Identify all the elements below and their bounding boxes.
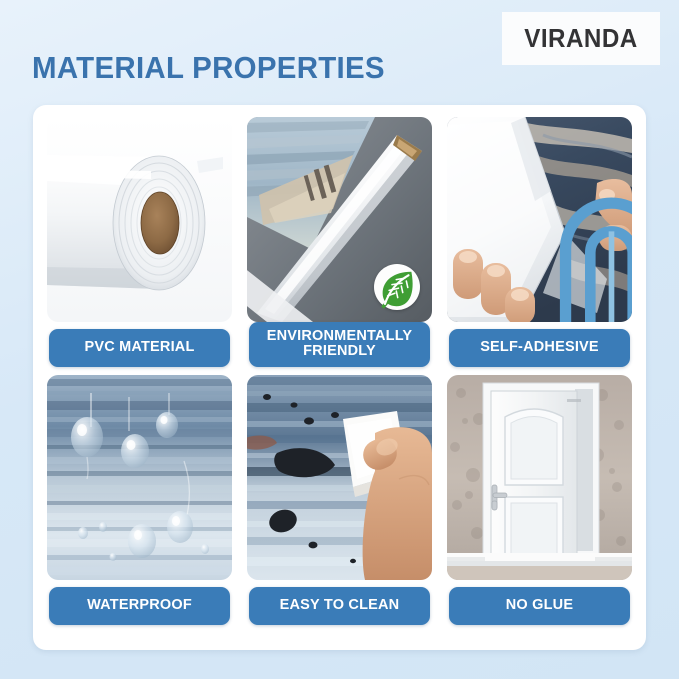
feature-card-waterproof[interactable]: WATERPROOF (47, 375, 232, 625)
card-label-text: NO GLUE (506, 598, 573, 614)
card-label-text: EASY TO CLEAN (280, 598, 400, 614)
pvc-roll-image (47, 117, 232, 322)
card-label-text: ENVIRONMENTALLY FRIENDLY (267, 329, 413, 360)
card-label-text: WATERPROOF (87, 598, 192, 614)
feature-card-self-adhesive[interactable]: SELF-ADHESIVE (447, 117, 632, 367)
card-label-line-2: FRIENDLY (267, 344, 413, 360)
brand-logo-box: VIRANDA (502, 12, 660, 65)
feature-grid: PVC MATERIAL (47, 117, 632, 627)
feature-card-no-glue[interactable]: NO GLUE (447, 375, 632, 625)
feature-card-pvc-material[interactable]: PVC MATERIAL (47, 117, 232, 367)
page-header: VIRANDA MATERIAL PROPERTIES (0, 0, 679, 105)
page-title: MATERIAL PROPERTIES (32, 50, 385, 86)
brand-name: VIRANDA (524, 23, 637, 54)
leaf-eco-badge (374, 264, 420, 310)
card-label-waterproof: WATERPROOF (49, 587, 230, 625)
leaf-icon (374, 185, 420, 323)
rolled-wallpaper-image (247, 117, 432, 322)
card-label-text: PVC MATERIAL (84, 340, 194, 356)
card-label-pvc-material: PVC MATERIAL (49, 329, 230, 367)
feature-card-environmentally-friendly[interactable]: ENVIRONMENTALLY FRIENDLY (247, 117, 432, 367)
feature-card-easy-to-clean[interactable]: EASY TO CLEAN (247, 375, 432, 625)
peeling-liner-image (447, 117, 632, 322)
card-label-environmentally-friendly: ENVIRONMENTALLY FRIENDLY (249, 322, 430, 367)
card-label-self-adhesive: SELF-ADHESIVE (449, 329, 630, 367)
white-door-image (447, 375, 632, 580)
wiping-cloth-image (247, 375, 432, 580)
card-label-text: SELF-ADHESIVE (480, 340, 599, 356)
feature-panel: PVC MATERIAL (33, 105, 646, 650)
paperclip-icon (519, 189, 632, 322)
water-droplets-image (47, 375, 232, 580)
card-label-no-glue: NO GLUE (449, 587, 630, 625)
card-label-line-1: ENVIRONMENTALLY (267, 328, 413, 344)
card-label-easy-to-clean: EASY TO CLEAN (249, 587, 430, 625)
